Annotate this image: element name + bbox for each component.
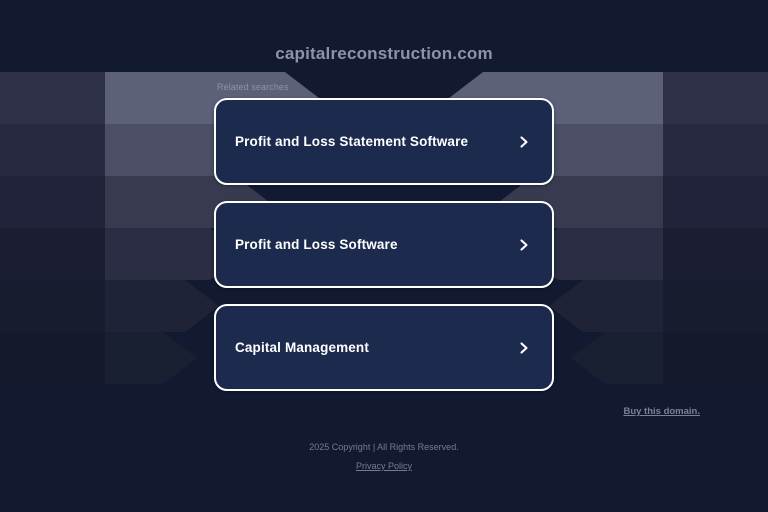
chevron-right-icon <box>517 341 531 355</box>
footer: Buy this domain. 2025 Copyright | All Ri… <box>0 397 768 512</box>
privacy-policy-link-wrap: Privacy Policy <box>0 461 768 471</box>
buy-this-domain-link[interactable]: Buy this domain. <box>623 406 700 417</box>
related-search-label: Profit and Loss Statement Software <box>235 134 468 149</box>
chevron-right-icon <box>517 238 531 252</box>
chevron-right-icon <box>517 135 531 149</box>
related-search-item-1[interactable]: Profit and Loss Statement Software <box>214 98 554 185</box>
privacy-policy-link[interactable]: Privacy Policy <box>356 461 412 471</box>
copyright-text: 2025 Copyright | All Rights Reserved. <box>0 442 768 452</box>
related-searches-block: Related searches Profit and Loss Stateme… <box>214 82 554 407</box>
related-search-label: Profit and Loss Software <box>235 237 398 252</box>
page-title: capitalreconstruction.com <box>275 44 493 64</box>
related-search-item-2[interactable]: Profit and Loss Software <box>214 201 554 288</box>
related-search-item-3[interactable]: Capital Management <box>214 304 554 391</box>
related-search-label: Capital Management <box>235 340 369 355</box>
related-searches-label: Related searches <box>214 82 554 92</box>
